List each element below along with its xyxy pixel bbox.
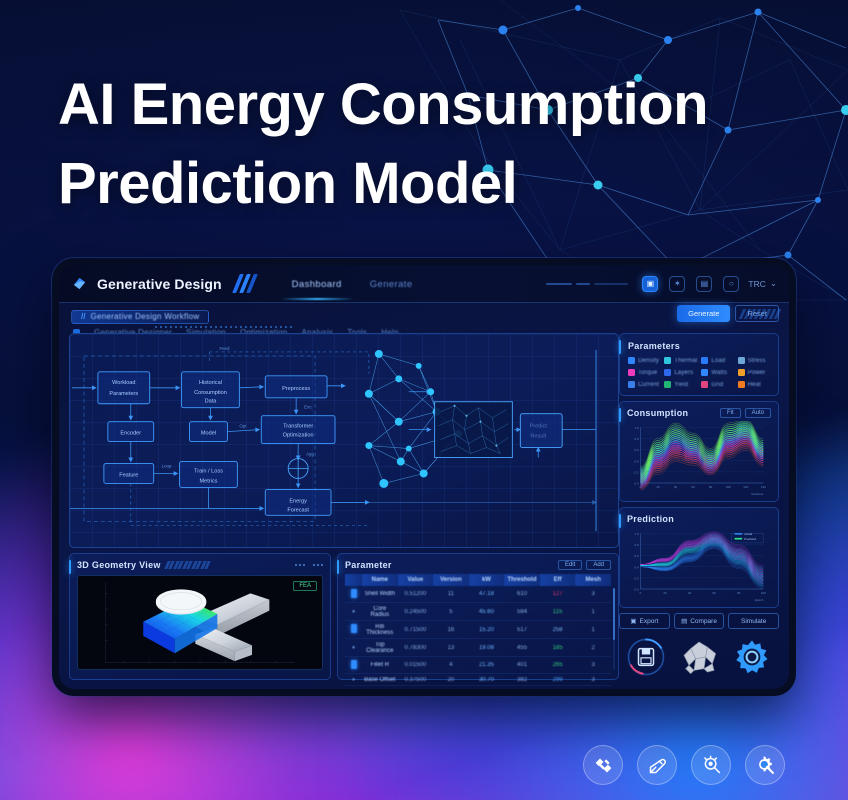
geometry-3d-view-title: 3D Geometry View bbox=[77, 560, 161, 570]
header-decoration bbox=[546, 283, 628, 285]
svg-text:Historical: Historical bbox=[199, 380, 222, 386]
prediction-chart-plot: 0.00.20.40.60.81.0020406080100EpochActua… bbox=[627, 527, 771, 603]
latent-map-box bbox=[435, 402, 513, 458]
chart-auto-button[interactable]: Auto bbox=[745, 408, 771, 418]
prediction-chart-svg bbox=[627, 527, 771, 603]
header-icon-group: ▣ ✶ ▤ ○ bbox=[642, 276, 739, 292]
table-column-header[interactable]: Value bbox=[398, 574, 434, 586]
cell-eff: 185 bbox=[540, 639, 576, 657]
cell-version: 5 bbox=[433, 603, 469, 621]
svg-text:Train / Loss: Train / Loss bbox=[194, 468, 223, 474]
view-menu-dots[interactable] bbox=[295, 564, 323, 566]
swatch-color-icon bbox=[701, 381, 708, 388]
mesh-polygon-icon[interactable] bbox=[679, 637, 719, 677]
table-column-header[interactable]: kW bbox=[469, 574, 505, 586]
consumption-chart-svg bbox=[627, 421, 771, 497]
swatch-color-icon bbox=[738, 357, 745, 364]
table-row[interactable]: Fillet R0.01500421.354012653 bbox=[345, 657, 611, 674]
table-row[interactable]: Rib Thickness0.715001615.205172581 bbox=[345, 621, 611, 639]
swatch-label: Current bbox=[638, 382, 659, 388]
cell-name: Core Radius bbox=[362, 603, 398, 621]
cell-eff: 265 bbox=[540, 657, 576, 674]
view-slash-decoration bbox=[166, 561, 295, 569]
cell-version: 16 bbox=[433, 621, 469, 639]
cell-mesh: 3 bbox=[575, 674, 611, 686]
bar-icon bbox=[351, 589, 357, 598]
swatch-color-icon bbox=[628, 381, 635, 388]
cell-threshold: 517 bbox=[504, 621, 540, 639]
svg-text:Loop: Loop bbox=[162, 464, 172, 469]
cell-version: 11 bbox=[433, 586, 469, 603]
row-icon-cell: ● bbox=[345, 603, 362, 621]
geometry-3d-canvas[interactable]: FEA bbox=[77, 575, 323, 670]
gear-search-icon[interactable] bbox=[745, 745, 785, 785]
swatch-label: Layers bbox=[674, 370, 693, 376]
cell-value: 0.71500 bbox=[398, 621, 434, 639]
reset-button[interactable]: Reset bbox=[735, 305, 779, 322]
grid-view-icon[interactable]: ▣ bbox=[642, 276, 658, 292]
flow-diagram: WorkloadParameters HistoricalConsumption… bbox=[70, 334, 618, 548]
tablet-device-frame: Generative Design Dashboard Generate ▣ ✶… bbox=[52, 258, 796, 696]
compare-button[interactable]: ▤ Compare bbox=[674, 613, 725, 629]
parameter-swatch[interactable]: Current bbox=[628, 381, 660, 388]
swatch-color-icon bbox=[701, 369, 708, 376]
cell-kw: 15.20 bbox=[469, 621, 505, 639]
compass-icon[interactable]: ✶ bbox=[669, 276, 685, 292]
cell-mesh: 1 bbox=[575, 621, 611, 639]
row-index: ● bbox=[352, 609, 356, 615]
cell-value: 0.78300 bbox=[398, 639, 434, 657]
swatch-label: Stress bbox=[748, 358, 766, 364]
cell-name: Top Clearance bbox=[362, 639, 398, 657]
row-icon-cell bbox=[345, 621, 362, 639]
layers-icon[interactable]: ▤ bbox=[696, 276, 712, 292]
parameter-swatch[interactable]: Power bbox=[738, 369, 770, 376]
cell-name: Rib Thickness bbox=[362, 621, 398, 639]
table-column-header[interactable]: Mesh bbox=[575, 574, 611, 586]
big-icon-row bbox=[619, 634, 779, 680]
panel-action-buttons: Generate Reset bbox=[677, 305, 779, 322]
right-sidebar: Generate Reset Parameters DensityThermal… bbox=[619, 333, 779, 680]
title-line-2: Prediction Model bbox=[58, 145, 738, 224]
swatch-label: Load bbox=[711, 358, 725, 364]
parameter-swatch[interactable]: Density bbox=[628, 357, 660, 364]
svg-text:Feed: Feed bbox=[219, 346, 230, 351]
swatch-label: Yield bbox=[674, 382, 688, 388]
swatch-label: Thermal bbox=[674, 358, 697, 364]
connector-pin-icon[interactable] bbox=[583, 745, 623, 785]
cell-value: 0.37500 bbox=[398, 674, 434, 686]
generate-button[interactable]: Generate bbox=[677, 305, 730, 322]
user-menu[interactable]: TRC ⌄ bbox=[748, 278, 777, 289]
table-column-header[interactable]: Eff bbox=[540, 574, 576, 586]
table-column-header[interactable]: Version bbox=[433, 574, 469, 586]
cell-mesh: 1 bbox=[575, 603, 611, 621]
tab-generate[interactable]: Generate bbox=[368, 268, 415, 300]
svg-text:Agg: Agg bbox=[306, 452, 314, 457]
cell-name: Fillet R bbox=[362, 657, 398, 674]
cell-name: Shell Width bbox=[362, 586, 398, 603]
table-row[interactable]: ●Top Clearance0.783001319.084551852 bbox=[345, 639, 611, 657]
svg-text:Enc: Enc bbox=[304, 405, 312, 410]
svg-text:Encoder: Encoder bbox=[120, 431, 141, 437]
cell-version: 4 bbox=[433, 657, 469, 674]
parameter-swatch[interactable]: Stress bbox=[738, 357, 770, 364]
svg-text:Opt: Opt bbox=[239, 424, 247, 429]
export-icon: ▣ bbox=[630, 617, 636, 625]
cell-mesh: 3 bbox=[575, 657, 611, 674]
parameter-table-header: Parameter Edit Add bbox=[345, 560, 611, 570]
cell-value: 0.01500 bbox=[398, 657, 434, 674]
prediction-chart-title: Prediction bbox=[627, 514, 674, 524]
breadcrumb-slash-icon: // bbox=[81, 312, 85, 321]
svg-text:Data: Data bbox=[205, 399, 218, 405]
swatch-color-icon bbox=[664, 381, 671, 388]
app-body: WorkloadParameters HistoricalConsumption… bbox=[59, 333, 789, 689]
app-header: Generative Design Dashboard Generate ▣ ✶… bbox=[59, 265, 789, 303]
cell-kw: 21.35 bbox=[469, 657, 505, 674]
cell-mesh: 2 bbox=[575, 639, 611, 657]
swatch-label: Density bbox=[638, 358, 659, 364]
cell-kw: 47.18 bbox=[469, 586, 505, 603]
cell-threshold: 610 bbox=[504, 586, 540, 603]
user-label: TRC bbox=[748, 279, 765, 289]
consumption-chart-header: Consumption Fit Auto bbox=[627, 408, 771, 418]
table-column-header[interactable]: Threshold bbox=[504, 574, 540, 586]
inspect-search-icon[interactable] bbox=[691, 745, 731, 785]
simulate-button[interactable]: Simulate bbox=[728, 613, 779, 629]
fea-badge: FEA bbox=[293, 581, 317, 591]
app-title: Generative Design bbox=[97, 276, 222, 292]
row-icon-cell: ● bbox=[345, 639, 362, 657]
svg-text:Consumption: Consumption bbox=[194, 390, 227, 396]
svg-text:Preprocess: Preprocess bbox=[282, 386, 310, 392]
header-tabs: Dashboard Generate bbox=[290, 268, 415, 300]
bar-icon bbox=[351, 660, 357, 669]
table-row[interactable]: ●Base Offset0.375002030.703822993 bbox=[345, 674, 611, 686]
save-disk-icon[interactable] bbox=[626, 637, 666, 677]
cell-eff: 127 bbox=[540, 586, 576, 603]
export-button[interactable]: ▣ Export bbox=[619, 613, 670, 629]
export-label: Export bbox=[640, 618, 659, 625]
breadcrumb-label: Generative Design Workflow bbox=[90, 312, 199, 321]
cell-value: 0.24500 bbox=[398, 603, 434, 621]
svg-text:Metrics: Metrics bbox=[200, 478, 218, 484]
parameter-table-title: Parameter bbox=[345, 560, 392, 570]
bar-icon bbox=[351, 624, 357, 633]
svg-text:Forecast: Forecast bbox=[287, 507, 309, 513]
swatch-label: Power bbox=[748, 370, 766, 376]
table-add-button[interactable]: Add bbox=[586, 560, 611, 570]
row-icon-cell bbox=[345, 586, 362, 603]
table-column-header[interactable]: Name bbox=[362, 574, 398, 586]
compare-label: Compare bbox=[690, 618, 717, 625]
app-screen: Generative Design Dashboard Generate ▣ ✶… bbox=[59, 265, 789, 689]
fea-part-render bbox=[78, 576, 322, 669]
svg-text:Transformer: Transformer bbox=[283, 424, 313, 430]
parameter-swatch[interactable]: Yield bbox=[664, 381, 697, 388]
consumption-chart-panel: Consumption Fit Auto 0.00.20.40.60.81.00… bbox=[619, 401, 779, 502]
action-button-row: ▣ Export ▤ Compare Simulate bbox=[619, 613, 779, 629]
swatch-color-icon bbox=[738, 369, 745, 376]
pen-edit-icon[interactable] bbox=[637, 745, 677, 785]
cell-eff: 299 bbox=[540, 674, 576, 686]
row-index: ● bbox=[352, 645, 356, 651]
prediction-chart-header: Prediction bbox=[627, 514, 771, 524]
table-edit-button[interactable]: Edit bbox=[558, 560, 582, 570]
parameter-table-panel: Parameter Edit Add NameValueVersionkWThr… bbox=[337, 553, 619, 680]
cell-threshold: 455 bbox=[504, 639, 540, 657]
table-header-row: NameValueVersionkWThresholdEffMesh bbox=[345, 574, 611, 586]
swatch-color-icon bbox=[628, 357, 635, 364]
floating-toolbar bbox=[583, 745, 785, 785]
consumption-chart-plot: 0.00.20.40.60.81.0020406080100120140Iter… bbox=[627, 421, 771, 497]
parameter-swatch[interactable]: Heat bbox=[738, 381, 770, 388]
cell-eff: 115 bbox=[540, 603, 576, 621]
page-title: AI Energy Consumption Prediction Model bbox=[58, 66, 738, 224]
cell-kw: 45.60 bbox=[469, 603, 505, 621]
chart-fit-button[interactable]: Fit bbox=[720, 408, 741, 418]
table-column-header[interactable] bbox=[345, 574, 362, 586]
parameter-swatch[interactable]: Load bbox=[701, 357, 733, 364]
consumption-chart-title: Consumption bbox=[627, 408, 688, 418]
svg-text:Workload: Workload bbox=[112, 380, 135, 386]
svg-text:Parameters: Parameters bbox=[109, 391, 138, 397]
parameter-swatch[interactable]: Grid bbox=[701, 381, 733, 388]
parameter-swatch-grid: DensityThermalLoadStressTorqueLayersWatt… bbox=[628, 357, 770, 388]
cell-threshold: 401 bbox=[504, 657, 540, 674]
cell-mesh: 3 bbox=[575, 586, 611, 603]
prediction-chart-panel: Prediction 0.00.20.40.60.81.002040608010… bbox=[619, 507, 779, 608]
design-flow-canvas[interactable]: WorkloadParameters HistoricalConsumption… bbox=[69, 333, 619, 548]
table-row[interactable]: Shell Width0.512001147.186101273 bbox=[345, 586, 611, 603]
compare-icon: ▤ bbox=[681, 617, 687, 625]
cell-threshold: 382 bbox=[504, 674, 540, 686]
swatch-label: Torque bbox=[638, 370, 657, 376]
swatch-color-icon bbox=[628, 369, 635, 376]
swatch-color-icon bbox=[664, 357, 671, 364]
cell-threshold: 584 bbox=[504, 603, 540, 621]
row-icon-cell: ● bbox=[345, 674, 362, 686]
parameter-swatch[interactable]: Thermal bbox=[664, 357, 697, 364]
parameter-swatch[interactable]: Layers bbox=[664, 369, 697, 376]
swatch-label: Grid bbox=[711, 382, 723, 388]
swatch-color-icon bbox=[664, 369, 671, 376]
dot-separator bbox=[155, 326, 292, 328]
user-icon[interactable]: ○ bbox=[723, 276, 739, 292]
parameter-swatch[interactable]: Watts bbox=[701, 369, 733, 376]
tab-dashboard[interactable]: Dashboard bbox=[290, 268, 344, 300]
parameter-table[interactable]: NameValueVersionkWThresholdEffMesh Shell… bbox=[345, 574, 611, 686]
chevron-down-icon: ⌄ bbox=[770, 278, 777, 289]
svg-text:Feature: Feature bbox=[119, 472, 138, 478]
cell-value: 0.51200 bbox=[398, 586, 434, 603]
parameter-swatch[interactable]: Torque bbox=[628, 369, 660, 376]
breadcrumb[interactable]: // Generative Design Workflow bbox=[71, 310, 209, 324]
header-slash-decoration bbox=[236, 274, 254, 293]
row-index: ● bbox=[352, 677, 356, 683]
geometry-3d-view-panel: 3D Geometry View bbox=[69, 553, 331, 680]
svg-text:Optimization: Optimization bbox=[283, 433, 314, 439]
swatch-color-icon bbox=[738, 381, 745, 388]
generative-design-logo bbox=[71, 275, 88, 292]
table-row[interactable]: ●Core Radius0.24500545.605841151 bbox=[345, 603, 611, 621]
swatch-color-icon bbox=[701, 357, 708, 364]
cell-version: 13 bbox=[433, 639, 469, 657]
cell-kw: 30.70 bbox=[469, 674, 505, 686]
svg-text:Model: Model bbox=[201, 431, 216, 437]
cell-name: Base Offset bbox=[362, 674, 398, 686]
cell-kw: 19.08 bbox=[469, 639, 505, 657]
swatch-label: Heat bbox=[748, 382, 761, 388]
swatch-label: Watts bbox=[711, 370, 727, 376]
parameters-title: Parameters bbox=[628, 341, 770, 351]
row-icon-cell bbox=[345, 657, 362, 674]
cell-version: 20 bbox=[433, 674, 469, 686]
title-line-1: AI Energy Consumption bbox=[58, 66, 738, 145]
geometry-3d-view-header: 3D Geometry View bbox=[77, 560, 323, 570]
table-scrollbar[interactable] bbox=[613, 588, 615, 670]
svg-text:Energy: Energy bbox=[289, 498, 307, 504]
cell-eff: 258 bbox=[540, 621, 576, 639]
settings-gear-icon[interactable] bbox=[732, 637, 772, 677]
simulate-label: Simulate bbox=[741, 618, 766, 625]
parameters-panel: Parameters DensityThermalLoadStressTorqu… bbox=[619, 333, 779, 396]
